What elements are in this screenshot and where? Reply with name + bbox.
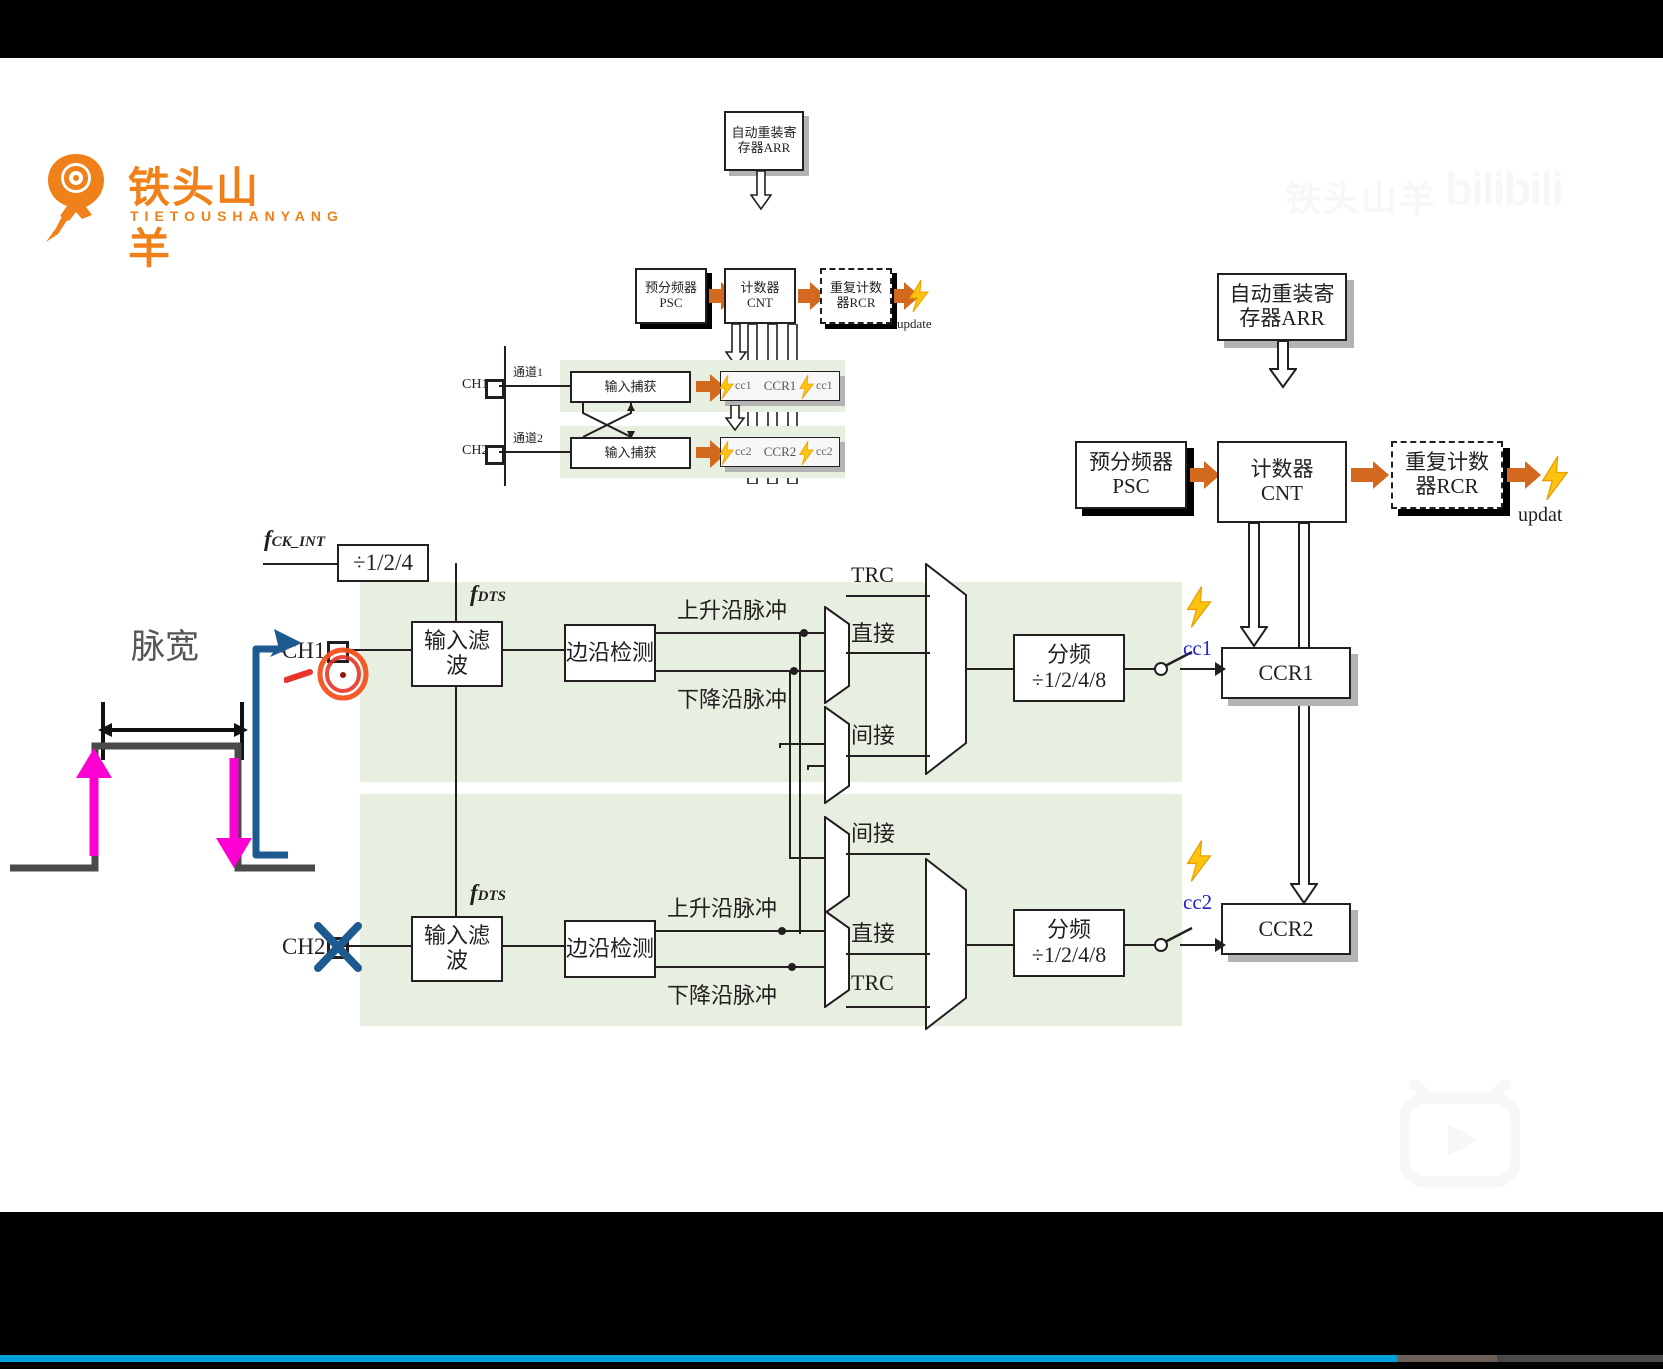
red-tick-annotation <box>284 668 314 686</box>
inset-capture1-to-ccr1-arrow <box>696 381 710 392</box>
ch1-cc1-bolt-icon <box>1185 586 1213 628</box>
ch1-mux-big <box>925 563 967 775</box>
main-cnt-to-rcr-arrow <box>1351 468 1373 482</box>
ch2-indirect-line <box>846 853 930 855</box>
inset-cc2-left-bolt-icon <box>718 441 735 465</box>
ch2-rising-tap-dot <box>778 927 786 935</box>
ch1-cc1-arrow <box>1180 668 1215 670</box>
ch1-mux-out-line <box>966 668 1014 670</box>
ch2-trc-line <box>846 1006 930 1008</box>
main-arr-box: 自动重装寄 存器ARR <box>1217 273 1347 341</box>
inset-ch2-line <box>499 451 571 453</box>
main-ccr1-box: CCR1 <box>1221 647 1351 699</box>
inset-cc2-right-label: cc2 <box>816 444 833 459</box>
inset-ch1-port <box>485 379 505 399</box>
ch1-filter-box: 输入滤 波 <box>411 621 503 687</box>
main-ccr1-label: CCR1 <box>1258 661 1313 686</box>
ch1-filter-label: 输入滤 波 <box>424 629 490 678</box>
ch2-edge-detect-label: 边沿检测 <box>566 937 654 962</box>
ch1-edge-detect-label: 边沿检测 <box>566 641 654 666</box>
ch2-direct-line <box>846 953 930 955</box>
inset-cc2-left-label: cc2 <box>735 444 752 459</box>
ch2-falling-label: 下降沿脉冲 <box>667 978 777 1010</box>
main-arr-label: 自动重装寄 存器ARR <box>1230 283 1335 330</box>
pulse-width-label: 脉宽 <box>131 619 199 668</box>
ch1-direct-label: 直接 <box>851 616 895 648</box>
inset-input-bus <box>504 346 506 486</box>
inset-capture2-box: 输入捕获 <box>570 437 691 469</box>
ch2-falling-tap-dot <box>788 963 796 971</box>
ch2-cc2-label: cc2 <box>1183 890 1212 915</box>
inset-cc2-right-bolt-icon <box>798 441 815 465</box>
inset-rcr-to-update-arrow <box>894 289 904 303</box>
main-psc-to-cnt-arrow <box>1190 468 1204 482</box>
ch1-edge-detect-box: 边沿检测 <box>564 624 656 682</box>
ch1-divider-box: 分频 ÷1/2/4/8 <box>1013 634 1125 702</box>
inset-capture2-label: 输入捕获 <box>604 446 656 461</box>
inset-arr-box: 自动重装寄 存器ARR <box>724 111 804 171</box>
main-cnt-to-ccr2-arrow <box>1290 523 1318 905</box>
inset-cnt-box: 计数器 CNT <box>724 268 796 324</box>
ch2-cc2-bolt-icon <box>1185 840 1213 882</box>
fck-int-label: fCK_INT <box>264 526 325 552</box>
ch1-filter-to-edge-line <box>503 649 565 651</box>
ch2-indirect-label: 间接 <box>851 816 895 848</box>
main-cnt-to-ccr1-arrow <box>1240 523 1268 648</box>
ch2-filter-to-edge-line <box>503 945 565 947</box>
ch2-mux-small-indirect <box>824 816 850 914</box>
inset-capture1-box: 输入捕获 <box>570 371 691 403</box>
logo-text-en: TIETOUSHANYANG <box>130 208 344 224</box>
watermark: 铁头山羊 bilibili <box>1285 162 1575 224</box>
ch2-falling-line <box>656 966 833 968</box>
ch1-trc-line <box>846 595 930 597</box>
inset-ccr1-label: CCR1 <box>764 379 797 394</box>
inset-rcr-label: 重复计数 器RCR <box>830 281 882 310</box>
inset-rcr-box: 重复计数 器RCR <box>820 268 892 324</box>
clock-drop-line <box>455 563 457 628</box>
ch2-cross-annotation <box>310 918 366 974</box>
main-rcr-to-update-arrow <box>1507 468 1525 482</box>
ch2-fdts-label: fDTS <box>470 880 506 906</box>
main-psc-label: 预分频器 PSC <box>1089 451 1173 498</box>
main-update-label: updat <box>1518 504 1562 527</box>
inset-update-bolt-icon <box>908 280 930 312</box>
inset-ch1-line <box>499 385 571 387</box>
ch2-mux-big <box>925 858 967 1030</box>
inset-cc1-left-label: cc1 <box>735 378 752 393</box>
inset-arr-to-cnt-arrow <box>750 171 772 211</box>
bilibili-tv-logo-icon <box>1400 1080 1520 1190</box>
ch2-cc2-arrow <box>1180 944 1215 946</box>
clock-prescaler-box: ÷1/2/4 <box>337 544 429 582</box>
main-arr-to-cnt-arrow <box>1269 341 1297 389</box>
inset-arr-label: 自动重装寄 存器ARR <box>731 126 796 155</box>
inset-channel2-label: 通道2 <box>513 429 543 446</box>
goat-head-icon <box>36 150 116 242</box>
main-ccr2-label: CCR2 <box>1258 917 1313 942</box>
inset-cc1-left-bolt-icon <box>718 375 735 399</box>
ch1-circle-highlight-annotation <box>316 647 370 701</box>
ch1-divider-label: 分频 ÷1/2/4/8 <box>1032 643 1106 692</box>
clock-drop-line-2 <box>455 676 457 920</box>
ch2-edge-detect-box: 边沿检测 <box>564 920 656 978</box>
video-progress-bar[interactable] <box>0 1355 1663 1362</box>
ch1-falling-label: 下降沿脉冲 <box>677 682 787 714</box>
watermark-brand: bilibili <box>1445 162 1562 216</box>
main-update-bolt-icon <box>1540 456 1570 500</box>
ch2-rising-line <box>656 930 833 932</box>
ch2-divider-label: 分频 ÷1/2/4/8 <box>1032 918 1106 967</box>
inset-capture1-label: 输入捕获 <box>604 380 656 395</box>
inset-cc1-right-bolt-icon <box>798 375 815 399</box>
ch1-cc1-label: cc1 <box>1183 636 1212 661</box>
inset-channel1-label: 通道1 <box>513 363 543 380</box>
ch1-indirect-line <box>846 755 930 757</box>
inset-update-label: update <box>897 316 932 332</box>
inset-psc-to-cnt-arrow <box>709 289 721 303</box>
ch2-enable-switch-icon[interactable] <box>1152 926 1198 954</box>
ch2-divider-box: 分频 ÷1/2/4/8 <box>1013 909 1125 977</box>
ch1-rising-label: 上升沿脉冲 <box>677 593 787 625</box>
inset-ch2-port <box>485 445 505 465</box>
inset-psc-box: 预分频器 PSC <box>635 268 707 324</box>
main-cnt-box: 计数器 CNT <box>1217 441 1347 523</box>
ch2-rising-label: 上升沿脉冲 <box>667 891 777 923</box>
fck-line <box>263 563 338 565</box>
main-cnt-label: 计数器 CNT <box>1251 458 1314 505</box>
slide-canvas: 铁头山羊 TIETOUSHANYANG 铁头山羊 bilibili 自动重装寄 … <box>0 58 1663 1212</box>
inset-psc-label: 预分频器 PSC <box>645 281 697 310</box>
main-psc-box: 预分频器 PSC <box>1075 441 1187 509</box>
inset-ccr2-label: CCR2 <box>764 445 797 460</box>
player-bottom-letterbox <box>0 1212 1663 1369</box>
ch1-fdts-label: fDTS <box>470 581 506 607</box>
ch1-direct-line <box>846 652 930 654</box>
main-ccr2-box: CCR2 <box>1221 903 1351 955</box>
inset-ccr1-to-ccr2-arrow <box>725 405 745 431</box>
inset-cnt-label: 计数器 CNT <box>740 281 779 310</box>
video-progress-played <box>0 1355 1397 1362</box>
video-player: 铁头山羊 TIETOUSHANYANG 铁头山羊 bilibili 自动重装寄 … <box>0 0 1663 1369</box>
inset-capture2-to-ccr2-arrow <box>696 447 710 458</box>
ch2-mux-out-line <box>966 944 1014 946</box>
main-rcr-label: 重复计数 器RCR <box>1405 451 1489 498</box>
main-rcr-box: 重复计数 器RCR <box>1391 441 1503 509</box>
ch2-filter-label: 输入滤 波 <box>424 924 490 973</box>
clock-prescaler-label: ÷1/2/4 <box>353 550 413 576</box>
inset-cc1-right-label: cc1 <box>816 378 833 393</box>
ch1-indirect-label: 间接 <box>851 718 895 750</box>
ch2-trc-label: TRC <box>851 970 894 996</box>
rising-edge-arrow-annotation <box>72 748 118 858</box>
ch2-direct-label: 直接 <box>851 916 895 948</box>
ch1-trc-label: TRC <box>851 562 894 588</box>
brand-logo: 铁头山羊 TIETOUSHANYANG <box>36 146 266 246</box>
watermark-text: 铁头山羊 <box>1285 170 1437 222</box>
inset-cnt-to-rcr-arrow <box>798 289 810 303</box>
ch2-filter-box: 输入滤 波 <box>411 916 503 982</box>
player-top-letterbox <box>0 0 1663 58</box>
ch2-mux-small <box>824 910 850 1008</box>
